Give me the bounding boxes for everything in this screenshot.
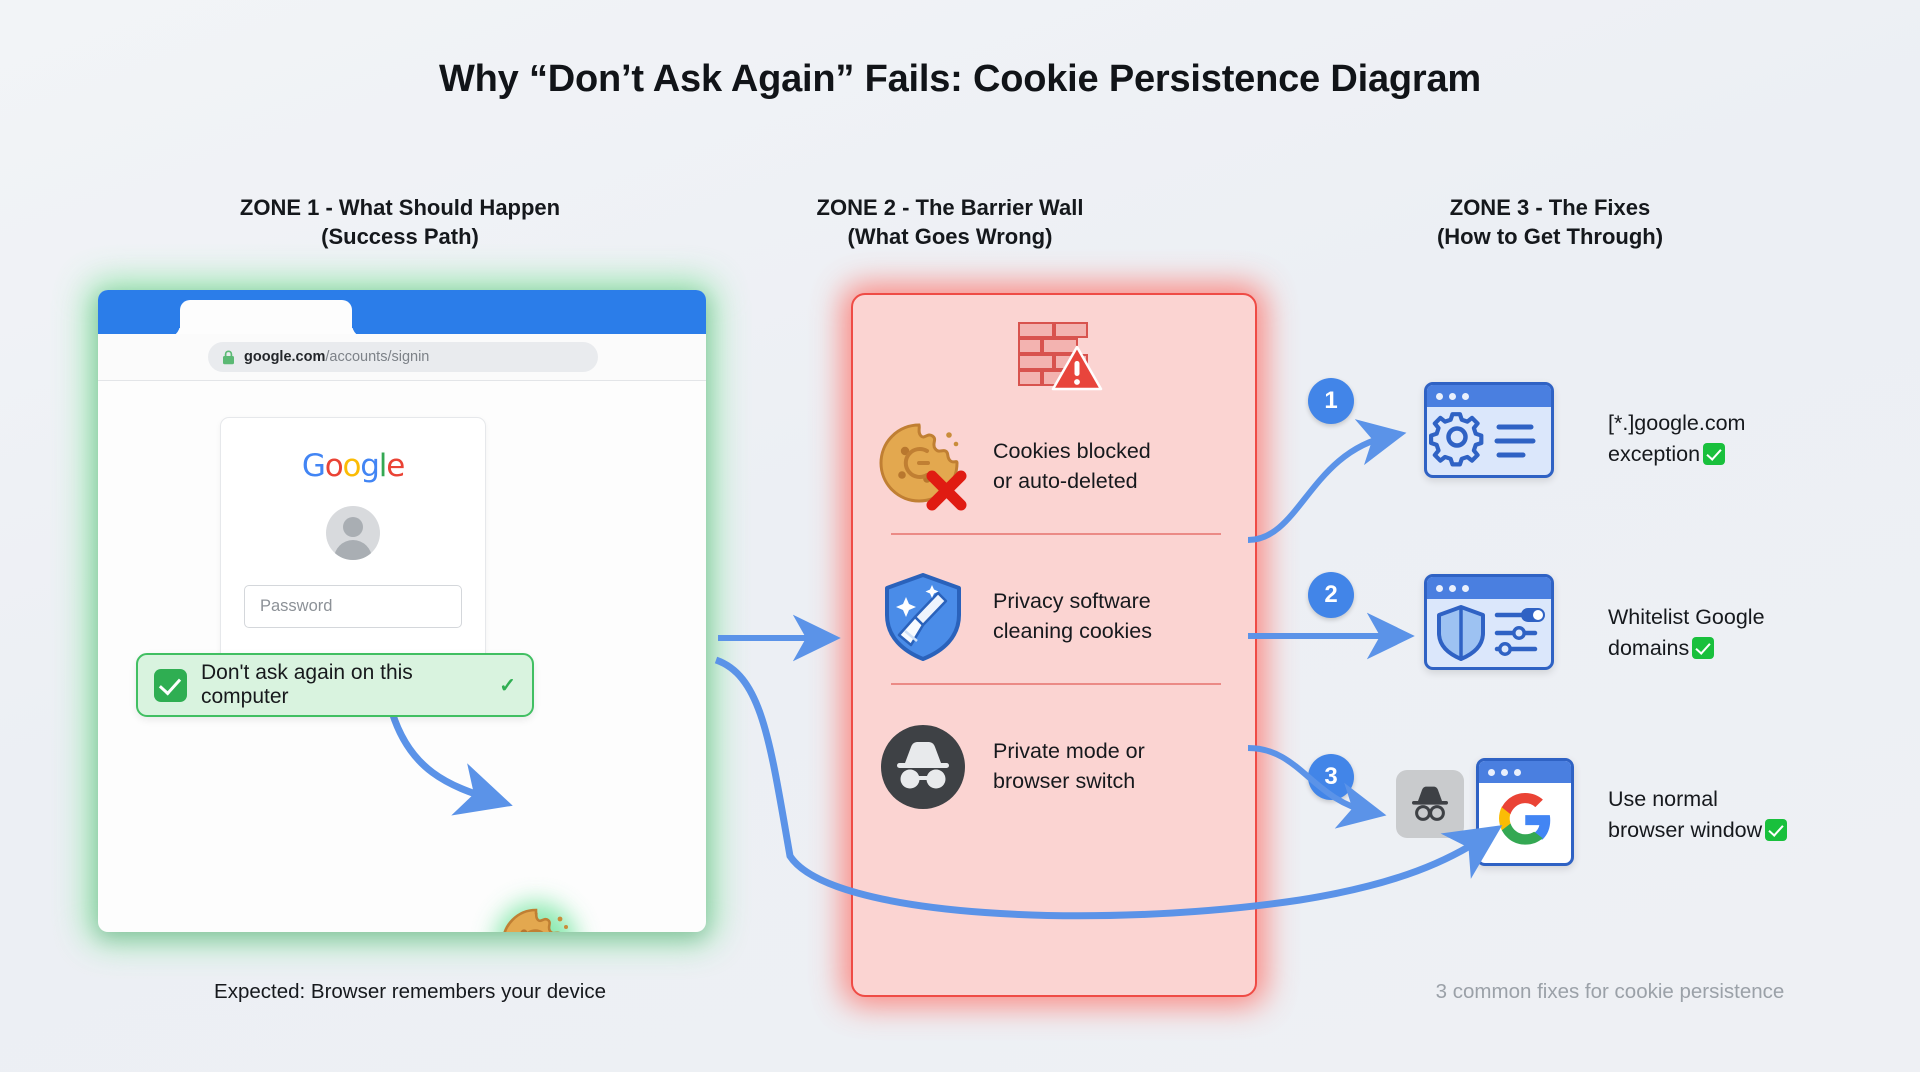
barrier-item-0-line1: Cookies blocked [993,437,1151,467]
fix-text-1: [*.]google.com exception [1608,408,1920,469]
barrier-divider [891,533,1221,535]
url-bar[interactable]: google.com/accounts/signin [208,342,598,372]
shield-broom-icon [875,569,971,665]
cookie-blocked-icon [875,419,971,515]
fix-3-line2: browser window [1608,818,1762,842]
incognito-to-google-icon [1476,758,1574,866]
incognito-hat-icon [875,719,971,815]
password-field[interactable]: Password [244,585,462,628]
fix-2-line1: Whitelist Google [1608,602,1920,633]
window-dot [1436,585,1443,592]
url-path: /accounts/signin [325,349,429,365]
fix-1-line2: exception [1608,442,1700,466]
settings-gear-window-icon [1424,382,1554,478]
window-titlebar [1479,761,1571,783]
window-dot [1436,393,1443,400]
barrier-item-1-line1: Privacy software [993,587,1152,617]
zone2-heading: ZONE 2 - The Barrier Wall (What Goes Wro… [700,193,1200,252]
fix-text-3: Use normal browser window [1608,784,1920,845]
checkbox-checked-icon[interactable] [154,669,187,702]
incognito-glyph [1407,784,1453,824]
window-titlebar [1427,385,1551,407]
url-text: google.com/accounts/signin [244,349,429,365]
dont-ask-again-banner[interactable]: Don't ask again on this computer ✓ [136,653,534,717]
fix-number-badge-3: 3 [1308,754,1354,800]
barrier-item-cookies-blocked: Cookies blocked or auto-deleted [875,409,1237,525]
success-check-icon [1703,443,1725,465]
zone1-heading: ZONE 1 - What Should Happen (Success Pat… [80,193,720,252]
avatar-body [334,540,372,560]
google-g-logo [1479,783,1571,863]
incognito-mode-chip-icon [1396,770,1464,838]
window-dot [1501,769,1508,776]
zone3-heading: ZONE 3 - The Fixes (How to Get Through) [1260,193,1840,252]
barrier-item-privacy-software: Privacy software cleaning cookies [875,559,1237,675]
google-logo-letter-e: e [386,448,404,484]
window-dot [1514,769,1521,776]
barrier-item-0-line2: or auto-deleted [993,467,1151,497]
barrier-item-0-text: Cookies blocked or auto-deleted [993,437,1151,496]
fix-1-line1: [*.]google.com [1608,408,1920,439]
google-logo-letter-o2: o [343,448,361,484]
shield-and-sliders [1427,599,1551,667]
browser-titlebar [98,290,706,334]
page-title: Why “Don’t Ask Again” Fails: Cookie Pers… [0,58,1920,101]
arrow-barrier1-to-fix1 [1248,436,1390,540]
barrier-item-1-line2: cleaning cookies [993,617,1152,647]
window-titlebar [1427,577,1551,599]
zone3-heading-line2: (How to Get Through) [1260,222,1840,251]
success-check-icon [1765,819,1787,841]
window-dot [1462,393,1469,400]
google-logo-letter-g2: g [360,448,378,484]
window-dot [1488,769,1495,776]
user-avatar-icon [326,506,380,560]
cookie-icon [498,905,574,932]
barrier-item-1-text: Privacy software cleaning cookies [993,587,1152,646]
window-dot [1462,585,1469,592]
fix-text-2: Whitelist Google domains [1608,602,1920,663]
barrier-item-2-text: Private mode or browser switch [993,737,1145,796]
gear-and-lines [1427,407,1551,475]
zone3-heading-line1: ZONE 3 - The Fixes [1260,193,1840,222]
zone3-footer-text: 3 common fixes for cookie persistence [1330,980,1890,1004]
fix-number-badge-1: 1 [1308,378,1354,424]
fix-3-line1: Use normal [1608,784,1920,815]
browser-window-mockup: google.com/accounts/signin Google Passwo… [98,290,706,932]
zone2-heading-line2: (What Goes Wrong) [700,222,1200,251]
window-dot [1449,393,1456,400]
google-logo-letter-o1: o [325,448,343,484]
fix-number-badge-2: 2 [1308,572,1354,618]
dont-ask-again-label: Don't ask again on this computer [201,661,485,709]
checkmark-icon: ✓ [499,673,516,698]
google-logo: Google [221,448,485,484]
shield-toggles-window-icon [1424,574,1554,670]
success-check-icon [1692,637,1714,659]
barrier-item-2-line1: Private mode or [993,737,1145,767]
brick-wall-warning-icon [1017,321,1103,393]
zone2-heading-line1: ZONE 2 - The Barrier Wall [700,193,1200,222]
google-logo-letter-g: G [302,448,325,484]
window-dot [1449,585,1456,592]
zone1-heading-line2: (Success Path) [80,222,720,251]
barrier-divider [891,683,1221,685]
zone1-footer-text: Expected: Browser remembers your device [60,980,760,1004]
lock-icon [222,350,235,365]
zone1-heading-line1: ZONE 1 - What Should Happen [80,193,720,222]
barrier-item-private-mode: Private mode or browser switch [875,709,1237,825]
browser-toolbar: google.com/accounts/signin [98,334,706,381]
diagram-canvas: Why “Don’t Ask Again” Fails: Cookie Pers… [0,0,1920,1072]
barrier-wall-panel: Cookies blocked or auto-deleted Privacy … [851,293,1257,997]
url-domain: google.com [244,349,325,365]
barrier-item-2-line2: browser switch [993,767,1145,797]
google-login-card: Google Password [220,417,486,681]
avatar-head [343,517,363,537]
browser-tab[interactable] [180,300,352,338]
fix-2-line2: domains [1608,636,1689,660]
